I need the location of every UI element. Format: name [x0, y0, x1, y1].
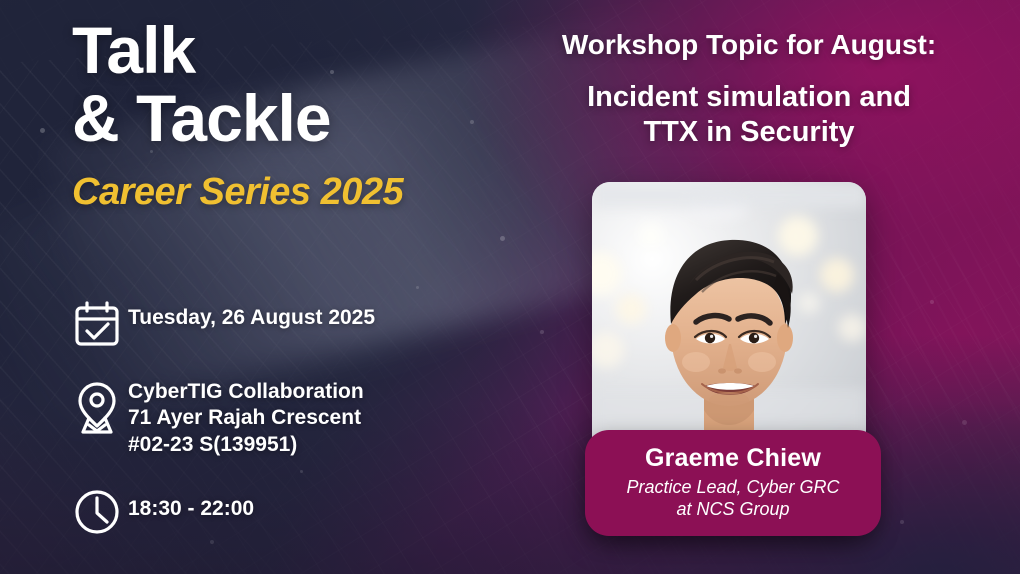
event-details-list: Tuesday, 26 August 2025 CyberTIG Collabo… [66, 296, 536, 564]
series-subtitle: Career Series 2025 [72, 172, 542, 214]
title-block: Talk & Tackle Career Series 2025 [72, 18, 542, 214]
speaker-role: Practice Lead, Cyber GRC at NCS Group [626, 477, 839, 521]
detail-row-date: Tuesday, 26 August 2025 [66, 296, 536, 350]
location-line-2: 71 Ayer Rajah Crescent [128, 406, 361, 429]
topic-line-2: TTX in Security [643, 116, 854, 148]
location-line-3: #02-23 S(139951) [128, 433, 297, 456]
detail-row-location: CyberTIG Collaboration 71 Ayer Rajah Cre… [66, 376, 536, 458]
detail-time-text: 18:30 - 22:00 [128, 484, 254, 522]
speaker-role-line-2: at NCS Group [676, 499, 789, 519]
clock-icon [66, 484, 128, 538]
event-banner: Talk & Tackle Career Series 2025 Tuesday… [0, 0, 1020, 574]
detail-row-time: 18:30 - 22:00 [66, 484, 536, 538]
topic-heading: Workshop Topic for August: [512, 28, 986, 62]
title-line-2: & Tackle [72, 86, 542, 150]
title-line-1: Talk [72, 18, 542, 82]
location-pin-icon [66, 376, 128, 438]
speaker-name: Graeme Chiew [645, 445, 821, 473]
workshop-topic-block: Workshop Topic for August: Incident simu… [512, 28, 986, 150]
speaker-name-card: Graeme Chiew Practice Lead, Cyber GRC at… [585, 430, 881, 536]
topic-body: Incident simulation and TTX in Security [512, 80, 986, 151]
detail-date-text: Tuesday, 26 August 2025 [128, 296, 375, 331]
location-line-1: CyberTIG Collaboration [128, 380, 364, 403]
topic-line-1: Incident simulation and [587, 81, 911, 113]
calendar-check-icon [66, 296, 128, 350]
detail-location-text: CyberTIG Collaboration 71 Ayer Rajah Cre… [128, 376, 364, 458]
speaker-role-line-1: Practice Lead, Cyber GRC [626, 477, 839, 497]
